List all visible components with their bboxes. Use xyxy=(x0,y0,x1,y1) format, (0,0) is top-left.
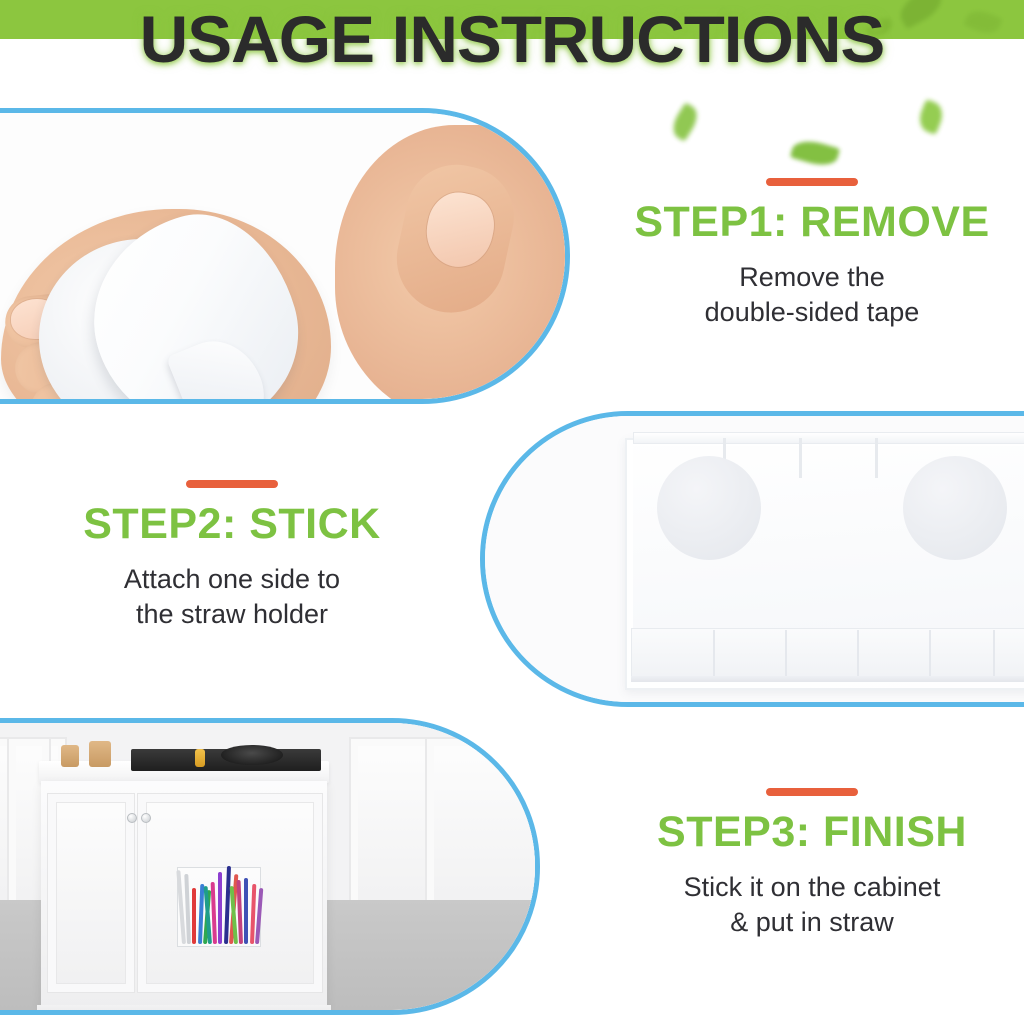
photo-kitchen-cabinet xyxy=(0,723,535,1010)
step-1-description-line-1: Remove the xyxy=(600,260,1024,295)
leaf-icon xyxy=(915,99,947,135)
step-3-heading: STEP3: FINISH xyxy=(600,810,1024,854)
step-1-text-block: STEP1: REMOVE Remove the double-sided ta… xyxy=(600,178,1024,330)
straw xyxy=(244,878,248,944)
step-3-divider xyxy=(766,788,858,796)
mounted-straw-holder xyxy=(177,867,261,947)
step-1-description: Remove the double-sided tape xyxy=(600,260,1024,330)
counter-jar xyxy=(61,745,79,767)
leaf-icon xyxy=(668,102,703,141)
step-2-description-line-2: the straw holder xyxy=(20,597,444,632)
step-3-photo-frame xyxy=(0,718,540,1015)
cabinet-knob xyxy=(127,813,137,823)
tray-slot xyxy=(929,630,931,680)
straw xyxy=(218,872,222,944)
adhesive-pad xyxy=(903,456,1007,560)
island-base xyxy=(37,1005,331,1015)
step-2-divider xyxy=(186,480,278,488)
photo-acrylic-straw-holder xyxy=(485,416,1024,702)
cabinet-knob xyxy=(141,813,151,823)
acrylic-holder-lip xyxy=(633,432,1024,444)
step-1-photo-frame xyxy=(0,108,570,404)
step-3-description-line-2: & put in straw xyxy=(600,905,1024,940)
counter-jar xyxy=(89,741,111,767)
step-1-heading: STEP1: REMOVE xyxy=(600,200,1024,244)
photo-hand-peeling-adhesive xyxy=(0,113,565,399)
holder-base-rail xyxy=(631,676,1024,682)
step-2-description: Attach one side to the straw holder xyxy=(20,562,444,632)
straw xyxy=(192,888,196,944)
adhesive-pad xyxy=(657,456,761,560)
tray-slot xyxy=(857,630,859,680)
page-title: USAGE INSTRUCTIONS xyxy=(0,4,1024,74)
cooktop-burner xyxy=(221,745,283,765)
cabinet-door-left xyxy=(47,793,135,993)
straw xyxy=(211,882,217,944)
counter-bottle xyxy=(195,749,205,767)
straw xyxy=(237,880,243,944)
step-1-divider xyxy=(766,178,858,186)
step-3-description: Stick it on the cabinet & put in straw xyxy=(600,870,1024,940)
step-2-photo-frame xyxy=(480,411,1024,707)
step-2-description-line-1: Attach one side to xyxy=(20,562,444,597)
step-3-text-block: STEP3: FINISH Stick it on the cabinet & … xyxy=(600,788,1024,940)
step-1-description-line-2: double-sided tape xyxy=(600,295,1024,330)
step-3-description-line-1: Stick it on the cabinet xyxy=(600,870,1024,905)
tray-slot xyxy=(785,630,787,680)
holder-divider-tab xyxy=(799,438,802,478)
step-2-text-block: STEP2: STICK Attach one side to the stra… xyxy=(20,480,444,632)
step-2-heading: STEP2: STICK xyxy=(20,502,444,546)
tray-slot xyxy=(713,630,715,680)
straw xyxy=(185,874,192,944)
background-cabinet xyxy=(425,737,540,927)
holder-bottom-tray xyxy=(631,628,1024,682)
tray-slot xyxy=(993,630,995,680)
holder-divider-tab xyxy=(875,438,878,478)
leaf-icon xyxy=(790,136,840,170)
